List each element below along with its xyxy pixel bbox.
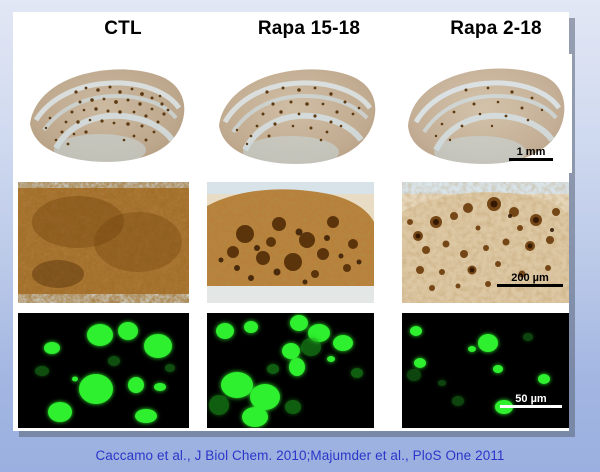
column-header-ctl: CTL	[35, 14, 211, 44]
slide-canvas: CTL Rapa 15-18 Rapa 2-18	[0, 0, 600, 472]
column-header-rapa-2-18: Rapa 2-18	[408, 14, 584, 44]
scale-bar-200um-line	[497, 284, 563, 287]
panel-cortex-ctl	[18, 182, 189, 303]
scale-bar-1mm-label: 1 mm	[517, 146, 546, 158]
scale-bar-1mm-line	[509, 158, 553, 161]
column-headers: CTL Rapa 15-18 Rapa 2-18	[13, 14, 569, 48]
scale-bar-50um-label: 50 µm	[515, 393, 546, 405]
citation-text: Caccamo et al., J Biol Chem. 2010;Majumd…	[0, 448, 600, 463]
column-header-rapa-15-18: Rapa 15-18	[221, 14, 397, 44]
scale-bar-200um-label: 200 µm	[511, 272, 549, 284]
scale-bar-200um: 200 µm	[497, 272, 563, 287]
panel-fluorescence-ctl	[18, 313, 189, 428]
scale-bar-1mm: 1 mm	[509, 146, 553, 161]
scale-bar-50um: 50 µm	[500, 393, 562, 408]
panel-fluorescence-rapa-15-18	[207, 313, 374, 428]
panel-cortex-rapa-15-18	[207, 182, 374, 303]
panel-whole-brain-ctl	[16, 54, 192, 173]
scale-bar-50um-line	[500, 405, 562, 408]
panel-whole-brain-rapa-15-18	[203, 54, 383, 173]
panel-fluorescence-rapa-2-18	[402, 313, 569, 428]
